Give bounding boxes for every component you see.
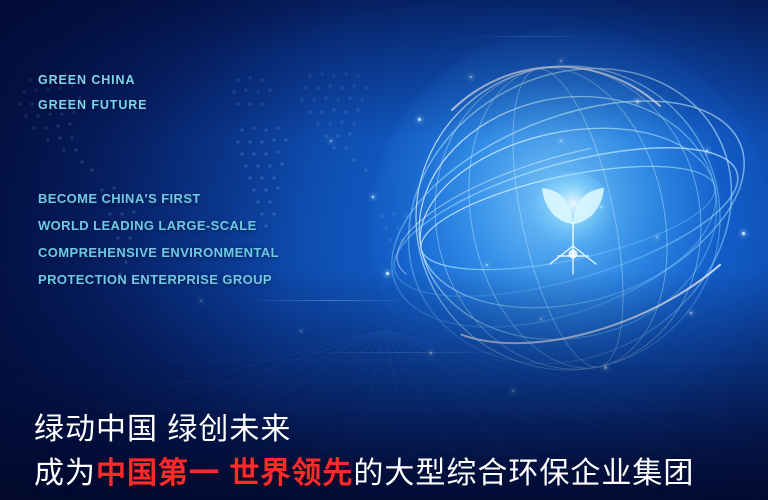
- headline-suffix: 的大型综合环保企业集团: [353, 457, 694, 490]
- eyebrow-line-1: GREEN CHINA: [38, 68, 147, 93]
- banner-image: GREEN CHINA GREEN FUTURE BECOME CHINA'S …: [0, 0, 768, 500]
- headline-line-1: 绿动中国 绿创未来: [34, 404, 291, 448]
- tagline-text: BECOME CHINA'S FIRST WORLD LEADING LARGE…: [38, 185, 279, 293]
- tagline-line-1: BECOME CHINA'S FIRST: [38, 185, 279, 212]
- headline-highlight: 中国第一 世界领先: [96, 457, 353, 490]
- tagline-line-2: WORLD LEADING LARGE-SCALE: [38, 212, 279, 239]
- headline-prefix: 成为: [34, 457, 96, 490]
- headline-line-2: 成为中国第一 世界领先的大型综合环保企业集团: [34, 448, 694, 492]
- eyebrow-line-2: GREEN FUTURE: [38, 93, 147, 118]
- eyebrow-text: GREEN CHINA GREEN FUTURE: [38, 68, 147, 118]
- tagline-line-4: PROTECTION ENTERPRISE GROUP: [38, 266, 279, 293]
- tagline-line-3: COMPREHENSIVE ENVIRONMENTAL: [38, 239, 279, 266]
